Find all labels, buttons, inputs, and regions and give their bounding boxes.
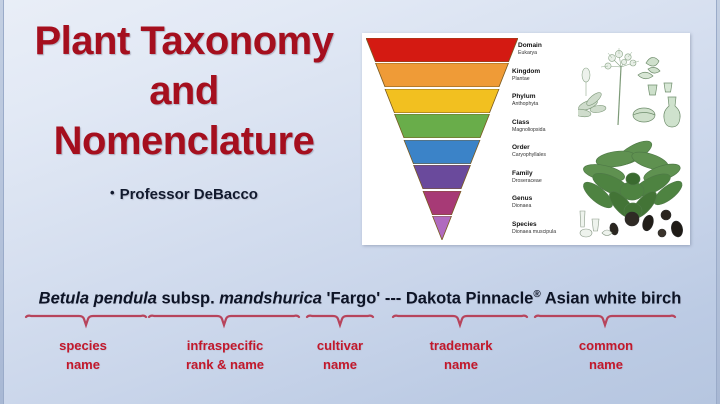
bullet-icon: •	[110, 185, 115, 200]
bracket-label-line-1: infraspecific	[149, 336, 301, 355]
bracket-label-infraspecific: infraspecificrank & name	[149, 336, 301, 374]
pyramid-tier-order	[366, 140, 518, 164]
rank-taxon: Droseraceae	[512, 178, 542, 185]
species-name-text: Betula pendula	[39, 290, 157, 308]
rank-taxon: Dionaea muscipula	[512, 229, 556, 236]
common-name-text: Asian white birch	[541, 290, 682, 308]
name-bracket-group	[0, 314, 720, 334]
rank-taxon: Eukarya	[518, 50, 542, 57]
rank-label-genus: GenusDionaea	[512, 195, 532, 210]
bracket-label-line-2: name	[393, 355, 529, 374]
page-title-line-1: Plant Taxonomy	[8, 16, 360, 66]
trademark-name-text: Dakota Pinnacle	[406, 290, 533, 308]
taxonomy-pyramid	[366, 38, 518, 240]
pyramid-tier-kingdom	[366, 63, 518, 87]
rank-name: Order	[512, 144, 546, 152]
rank-taxon: Magnoliopsida	[512, 127, 545, 134]
rank-name: Species	[512, 221, 556, 229]
rank-taxon: Dionaea	[512, 203, 532, 210]
page-title-line-2: and	[8, 66, 360, 116]
rank-label-domain: DomainEukarya	[518, 42, 542, 57]
rank-label-family: FamilyDroseraceae	[512, 170, 542, 185]
rank-label-order: OrderCaryophyllales	[512, 144, 546, 159]
bracket-label-line-1: trademark	[393, 336, 529, 355]
registered-trademark-icon: ®	[533, 289, 540, 300]
rank-taxon: Anthophyta	[512, 101, 538, 108]
presenter-line: •Professor DeBacco	[8, 186, 360, 203]
rank-name: Class	[512, 119, 545, 127]
slide-canvas: Plant Taxonomy and Nomenclature •Profess…	[0, 0, 720, 404]
bracket-label-common: commonname	[535, 336, 677, 374]
subsp-abbrev-text: subsp.	[157, 290, 219, 308]
pyramid-tier-phylum	[366, 89, 518, 113]
rank-name: Domain	[518, 42, 542, 50]
bracket-label-line-1: cultivar	[307, 336, 373, 355]
bracket-label-line-2: name	[26, 355, 140, 374]
rank-label-kingdom: KingdomPlantae	[512, 68, 540, 83]
name-separator-text: ---	[380, 290, 406, 308]
taxonomy-image-panel: DomainEukaryaKingdomPlantaePhylumAnthoph…	[362, 33, 690, 245]
bracket-label-trademark: trademarkname	[393, 336, 529, 374]
presenter-name: Professor DeBacco	[120, 186, 258, 203]
rank-label-class: ClassMagnoliopsida	[512, 119, 545, 134]
bracket-label-line-2: name	[535, 355, 677, 374]
pyramid-tier-genus	[366, 191, 518, 215]
infraspecific-epithet-text: mandshurica	[219, 290, 322, 308]
bracket-label-line-1: common	[535, 336, 677, 355]
title-block: Plant Taxonomy and Nomenclature •Profess…	[8, 16, 360, 203]
bracket-label-line-1: species	[26, 336, 140, 355]
page-title-line-3: Nomenclature	[8, 116, 360, 166]
cultivar-name-text: 'Fargo'	[322, 290, 380, 308]
rank-name: Kingdom	[512, 68, 540, 76]
rank-name: Phylum	[512, 93, 538, 101]
rank-taxon: Plantae	[512, 76, 540, 83]
rank-label-species: SpeciesDionaea muscipula	[512, 221, 556, 236]
pyramid-tier-family	[366, 165, 518, 189]
pyramid-tier-class	[366, 114, 518, 138]
pyramid-tier-domain	[366, 38, 518, 62]
pyramid-tier-species	[366, 216, 518, 240]
rank-taxon: Caryophyllales	[512, 152, 546, 159]
full-plant-name: Betula pendula subsp. mandshurica 'Fargo…	[0, 289, 720, 309]
rank-name: Family	[512, 170, 542, 178]
rank-label-phylum: PhylumAnthophyta	[512, 93, 538, 108]
rank-name: Genus	[512, 195, 532, 203]
bracket-label-line-2: rank & name	[149, 355, 301, 374]
bracket-label-species: speciesname	[26, 336, 140, 374]
name-part-label-list: speciesnameinfraspecificrank & nameculti…	[0, 336, 720, 392]
venus-flytrap-botanical-illustration	[578, 33, 690, 245]
bracket-label-cultivar: cultivarname	[307, 336, 373, 374]
bracket-label-line-2: name	[307, 355, 373, 374]
